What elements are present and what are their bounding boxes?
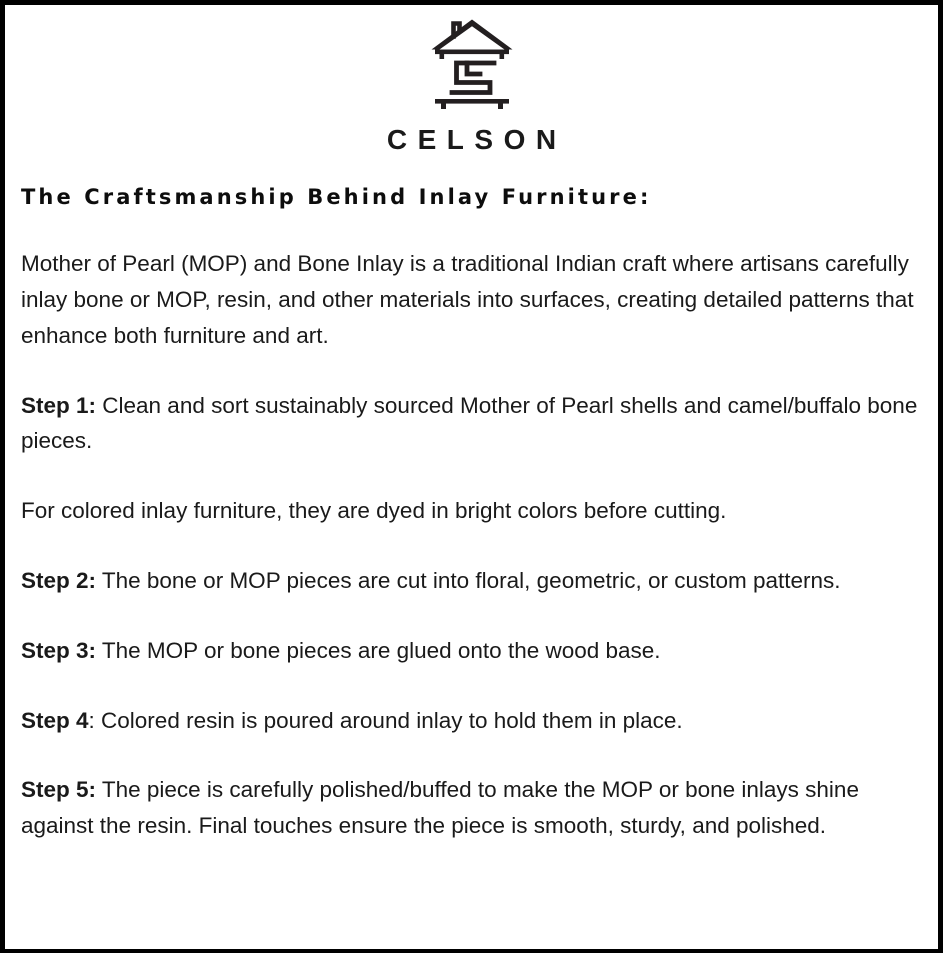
page-content: CELSON The Craftsmanship Behind Inlay Fu…: [5, 5, 938, 949]
step-label: Step 5:: [21, 777, 96, 802]
step-item-5: Step 5: The piece is carefully polished/…: [21, 772, 919, 844]
step-item-1: Step 1: Clean and sort sustainably sourc…: [21, 388, 919, 460]
step-text: The MOP or bone pieces are glued onto th…: [96, 638, 661, 663]
spacer: [21, 599, 919, 633]
step-text: : Colored resin is poured around inlay t…: [89, 708, 683, 733]
spacer: [21, 354, 919, 388]
spacer: [21, 210, 919, 246]
step-label: Step 4: [21, 708, 89, 733]
intro-paragraph: Mother of Pearl (MOP) and Bone Inlay is …: [21, 246, 919, 353]
document-body: Mother of Pearl (MOP) and Bone Inlay is …: [16, 210, 927, 844]
step-label: Step 2:: [21, 568, 96, 593]
spacer: [21, 669, 919, 703]
brand-wordmark: CELSON: [376, 126, 566, 154]
spacer: [21, 529, 919, 563]
document-page: CELSON The Craftsmanship Behind Inlay Fu…: [0, 0, 943, 953]
spacer: [21, 738, 919, 772]
step-text: The bone or MOP pieces are cut into flor…: [96, 568, 841, 593]
step-item-3: Step 3: The MOP or bone pieces are glued…: [21, 633, 919, 669]
house-monogram-logo-icon: [426, 14, 518, 112]
step-label: Step 1:: [21, 393, 96, 418]
step-text: The piece is carefully polished/buffed t…: [21, 777, 859, 838]
brand-header: CELSON: [16, 5, 927, 154]
step-item-2: Step 2: The bone or MOP pieces are cut i…: [21, 563, 919, 599]
note-paragraph: For colored inlay furniture, they are dy…: [21, 493, 919, 529]
step-text: Clean and sort sustainably sourced Mothe…: [21, 393, 917, 454]
step-item-4: Step 4: Colored resin is poured around i…: [21, 703, 919, 739]
page-title: The Craftsmanship Behind Inlay Furniture…: [16, 154, 927, 210]
step-label: Step 3:: [21, 638, 96, 663]
spacer: [21, 459, 919, 493]
